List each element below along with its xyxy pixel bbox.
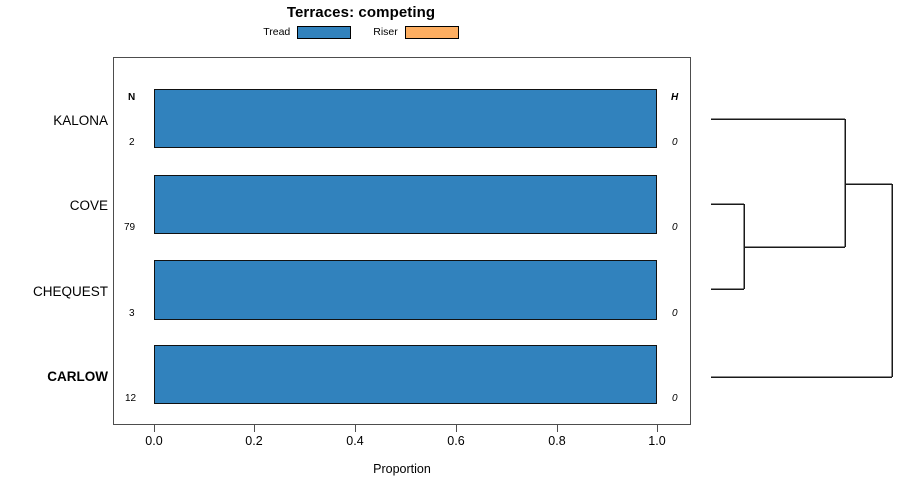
bar-tread-carlow xyxy=(154,345,657,404)
h-value-chequest: 0 xyxy=(672,308,678,319)
chart-canvas: Terraces: competing Tread Riser KALONA C… xyxy=(0,0,900,500)
x-tick-mark-2 xyxy=(355,425,356,432)
category-label-kalona: KALONA xyxy=(4,113,108,128)
bar-tread-kalona xyxy=(154,89,657,148)
x-axis-title: Proportion xyxy=(113,462,691,476)
h-value-cove: 0 xyxy=(672,222,678,233)
n-value-kalona: 2 xyxy=(129,137,135,148)
category-label-cove: COVE xyxy=(4,198,108,213)
bar-tread-chequest xyxy=(154,260,657,320)
h-value-kalona: 0 xyxy=(672,137,678,148)
legend-swatch-tread-icon xyxy=(297,26,351,39)
category-label-carlow: CARLOW xyxy=(4,369,108,384)
h-column-header: H xyxy=(671,92,678,103)
x-tick-label-5: 1.0 xyxy=(627,434,687,448)
chart-title: Terraces: competing xyxy=(0,4,722,21)
h-value-carlow: 0 xyxy=(672,393,678,404)
x-tick-label-3: 0.6 xyxy=(426,434,486,448)
x-tick-label-0: 0.0 xyxy=(124,434,184,448)
x-tick-mark-4 xyxy=(557,425,558,432)
category-axis-labels: KALONA COVE CHEQUEST CARLOW xyxy=(0,0,108,500)
legend-label-tread: Tread xyxy=(263,26,290,39)
n-value-chequest: 3 xyxy=(129,308,135,319)
x-tick-label-1: 0.2 xyxy=(224,434,284,448)
n-column-header: N xyxy=(128,92,135,103)
dendrogram-svg xyxy=(700,57,900,425)
chart-legend: Tread Riser xyxy=(0,26,722,39)
cluster-dendrogram xyxy=(700,57,900,425)
legend-swatch-riser-icon xyxy=(405,26,459,39)
x-tick-mark-0 xyxy=(154,425,155,432)
x-tick-label-4: 0.8 xyxy=(527,434,587,448)
x-tick-label-2: 0.4 xyxy=(325,434,385,448)
x-tick-mark-1 xyxy=(254,425,255,432)
legend-item-tread: Tread xyxy=(263,26,351,39)
x-tick-mark-3 xyxy=(456,425,457,432)
legend-label-riser: Riser xyxy=(373,26,398,39)
x-tick-mark-5 xyxy=(657,425,658,432)
category-label-chequest: CHEQUEST xyxy=(4,284,108,299)
legend-item-riser: Riser xyxy=(373,26,459,39)
bar-tread-cove xyxy=(154,175,657,234)
h-value-carlow-n: 12 xyxy=(125,393,136,404)
n-value-cove: 79 xyxy=(124,222,135,233)
